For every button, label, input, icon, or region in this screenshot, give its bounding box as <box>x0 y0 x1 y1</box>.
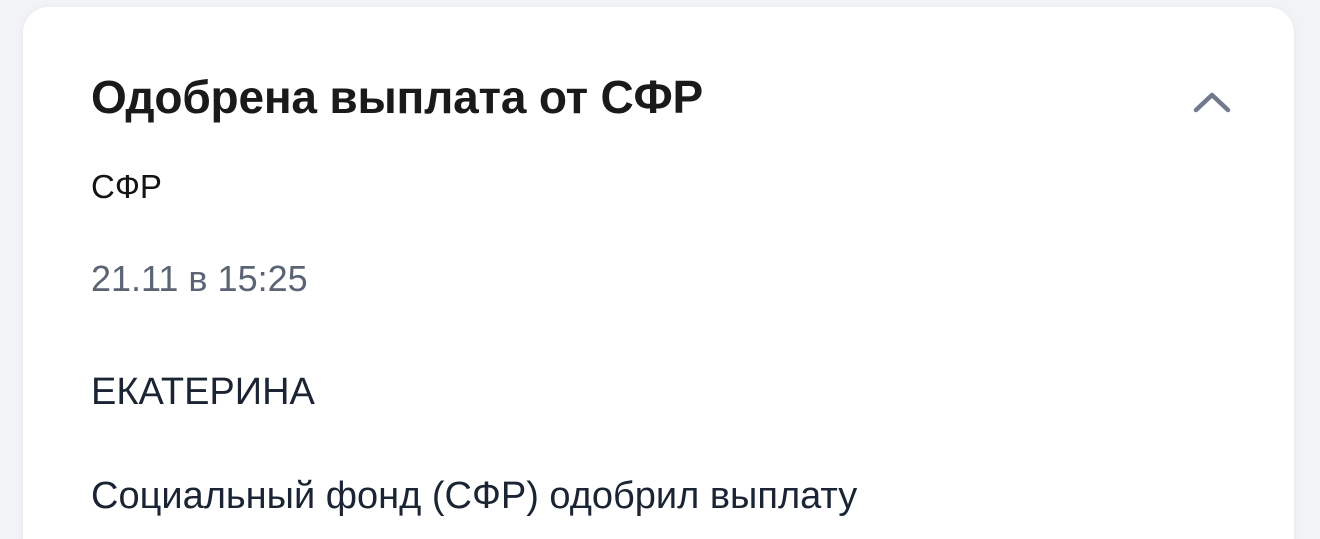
notification-source: СФР <box>91 170 162 203</box>
notification-card[interactable]: Одобрена выплата от СФР СФР 21.11 в 15:2… <box>23 7 1294 539</box>
notification-title: Одобрена выплата от СФР <box>91 74 703 120</box>
notification-header: Одобрена выплата от СФР <box>91 74 1238 128</box>
screen: Одобрена выплата от СФР СФР 21.11 в 15:2… <box>0 0 1320 539</box>
chevron-up-icon <box>1192 89 1232 115</box>
collapse-toggle-button[interactable] <box>1186 76 1238 128</box>
notification-timestamp: 21.11 в 15:25 <box>91 261 308 297</box>
notification-message: Социальный фонд (СФР) одобрил выплату <box>91 473 1254 521</box>
notification-recipient: ЕКАТЕРИНА <box>91 373 315 411</box>
